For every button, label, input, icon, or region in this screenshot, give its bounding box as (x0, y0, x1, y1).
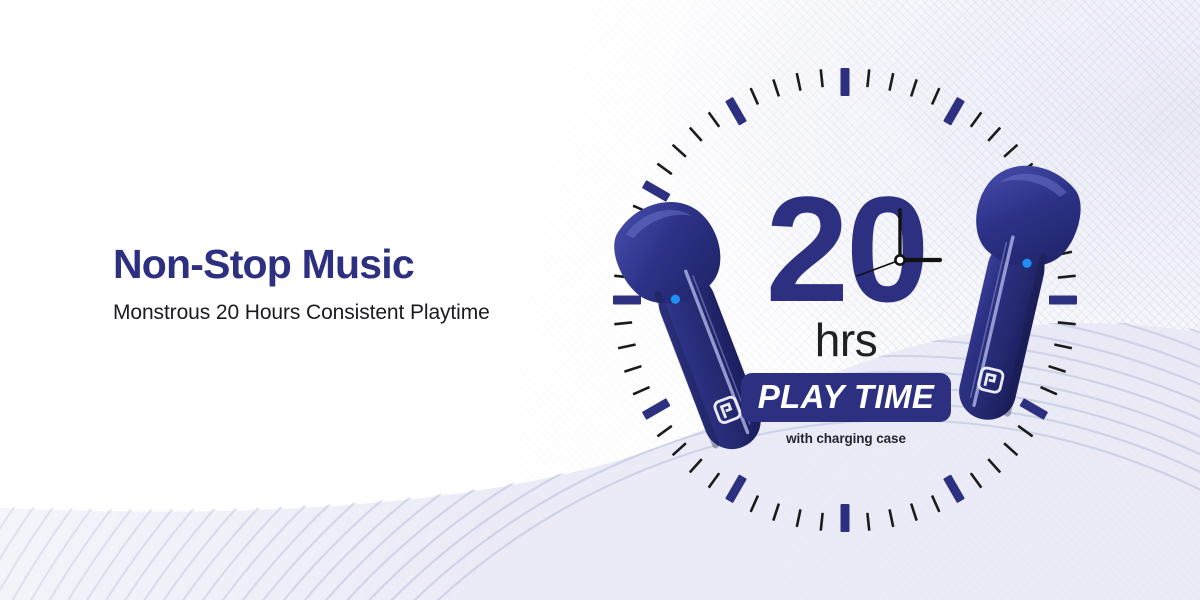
promo-banner: 20 hrs PLAY TIME with charging case Non-… (0, 0, 1200, 600)
play-time-badge: PLAY TIME (741, 373, 952, 422)
playtime-stat: 20 hrs PLAY TIME with charging case (732, 188, 960, 446)
clock-hands-icon (840, 200, 960, 320)
copy-block: Non-Stop Music Monstrous 20 Hours Consis… (113, 243, 583, 325)
charging-case-caption: with charging case (732, 431, 960, 446)
page-subtitle: Monstrous 20 Hours Consistent Playtime (113, 300, 583, 325)
page-title: Non-Stop Music (113, 243, 583, 286)
